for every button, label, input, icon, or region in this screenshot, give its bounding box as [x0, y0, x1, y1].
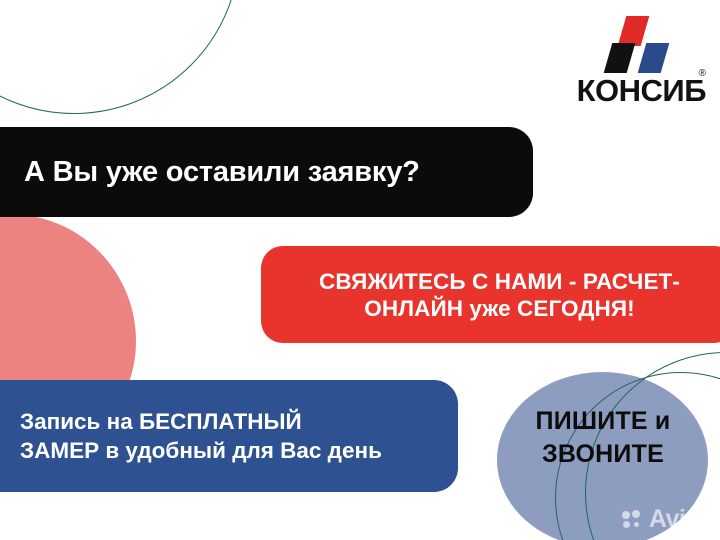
- company-logo: КОНСИБ ®: [556, 16, 706, 114]
- free-measurement-text: Запись на БЕСПЛАТНЫЙ ЗАМЕР в удобный для…: [20, 407, 382, 465]
- write-and-call-cta: ПИШИТЕ и ЗВОНИТЕ: [498, 405, 708, 471]
- free-measurement-line-2: ЗАМЕР в удобный для Вас день: [20, 438, 382, 463]
- write-and-call-line-1: ПИШИТЕ и: [498, 405, 708, 438]
- headline-question-banner: А Вы уже оставили заявку?: [0, 127, 533, 217]
- contact-offer-line-2: ОНЛАЙН уже СЕГОДНЯ!: [364, 296, 634, 321]
- avito-watermark: Avito: [622, 507, 708, 532]
- free-measurement-line-1: Запись на БЕСПЛАТНЫЙ: [20, 409, 302, 434]
- free-measurement-banner: Запись на БЕСПЛАТНЫЙ ЗАМЕР в удобный для…: [0, 380, 458, 492]
- contact-offer-banner: СВЯЖИТЕСЬ С НАМИ - РАСЧЕТ- ОНЛАЙН уже СЕ…: [261, 246, 720, 343]
- avito-dots-icon: [622, 510, 644, 530]
- write-and-call-line-2: ЗВОНИТЕ: [498, 438, 708, 471]
- logo-parallelogram-blue: [638, 43, 670, 73]
- promo-banner-canvas: КОНСИБ ® А Вы уже оставили заявку? СВЯЖИ…: [0, 0, 720, 540]
- logo-parallelogram-black: [604, 43, 636, 73]
- contact-offer-line-1: СВЯЖИТЕСЬ С НАМИ - РАСЧЕТ-: [319, 269, 680, 294]
- logo-parallelogram-red: [618, 16, 650, 46]
- avito-watermark-label: Avito: [649, 507, 708, 532]
- headline-question-text: А Вы уже оставили заявку?: [24, 156, 420, 189]
- logo-wordmark: КОНСИБ: [556, 74, 706, 108]
- contact-offer-text: СВЯЖИТЕСЬ С НАМИ - РАСЧЕТ- ОНЛАЙН уже СЕ…: [319, 268, 680, 322]
- registered-trademark-symbol: ®: [699, 68, 706, 79]
- decorative-ring-top-left: [0, 0, 240, 114]
- logo-mark-icon: [594, 16, 672, 74]
